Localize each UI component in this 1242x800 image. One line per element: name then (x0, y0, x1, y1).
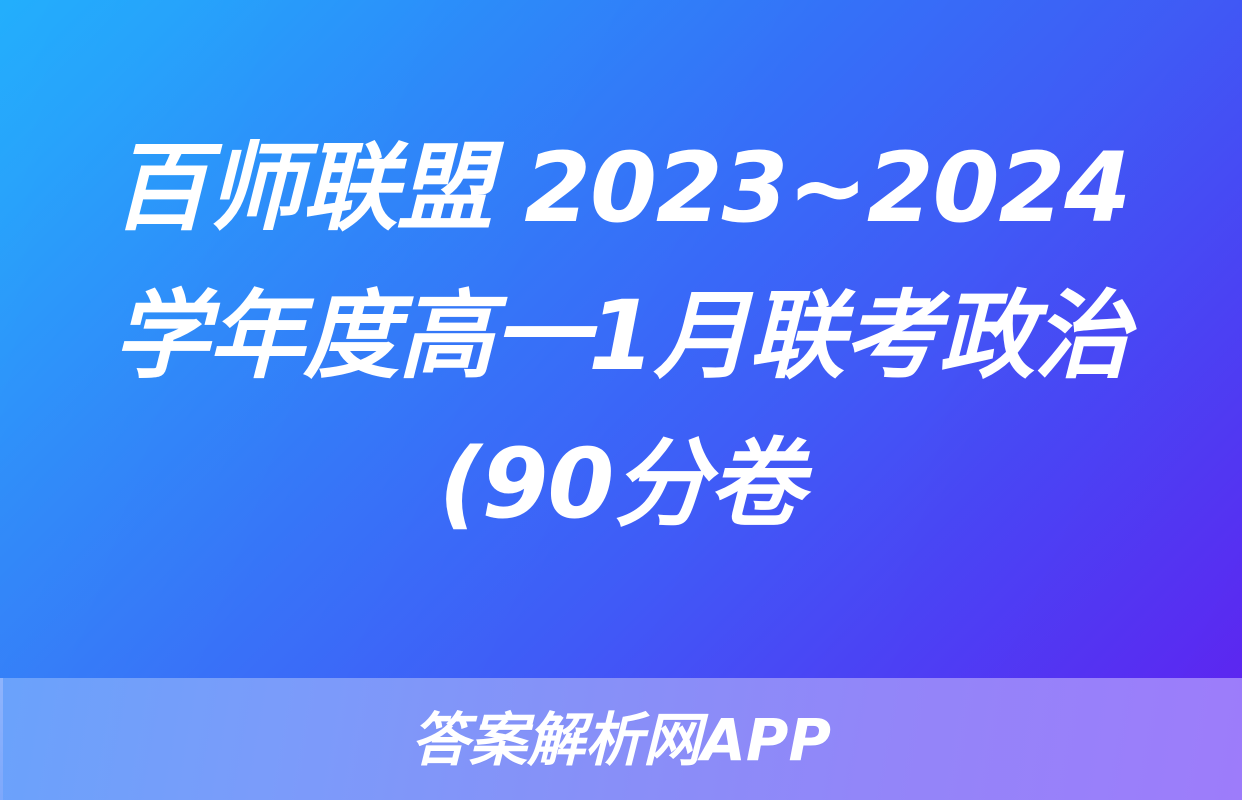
watermark-band: 答案解析网APP (0, 678, 1242, 800)
title-container: 百师联盟 2023~2024学年度高一1月联考政治(90分卷 (0, 0, 1242, 678)
exam-paper-cover-poster: 百师联盟 2023~2024学年度高一1月联考政治(90分卷 答案解析网APP (0, 0, 1242, 800)
app-watermark-label: 答案解析网APP (411, 711, 831, 769)
hero-gradient-banner: 百师联盟 2023~2024学年度高一1月联考政治(90分卷 (0, 0, 1242, 678)
page-title: 百师联盟 2023~2024学年度高一1月联考政治(90分卷 (76, 114, 1166, 558)
